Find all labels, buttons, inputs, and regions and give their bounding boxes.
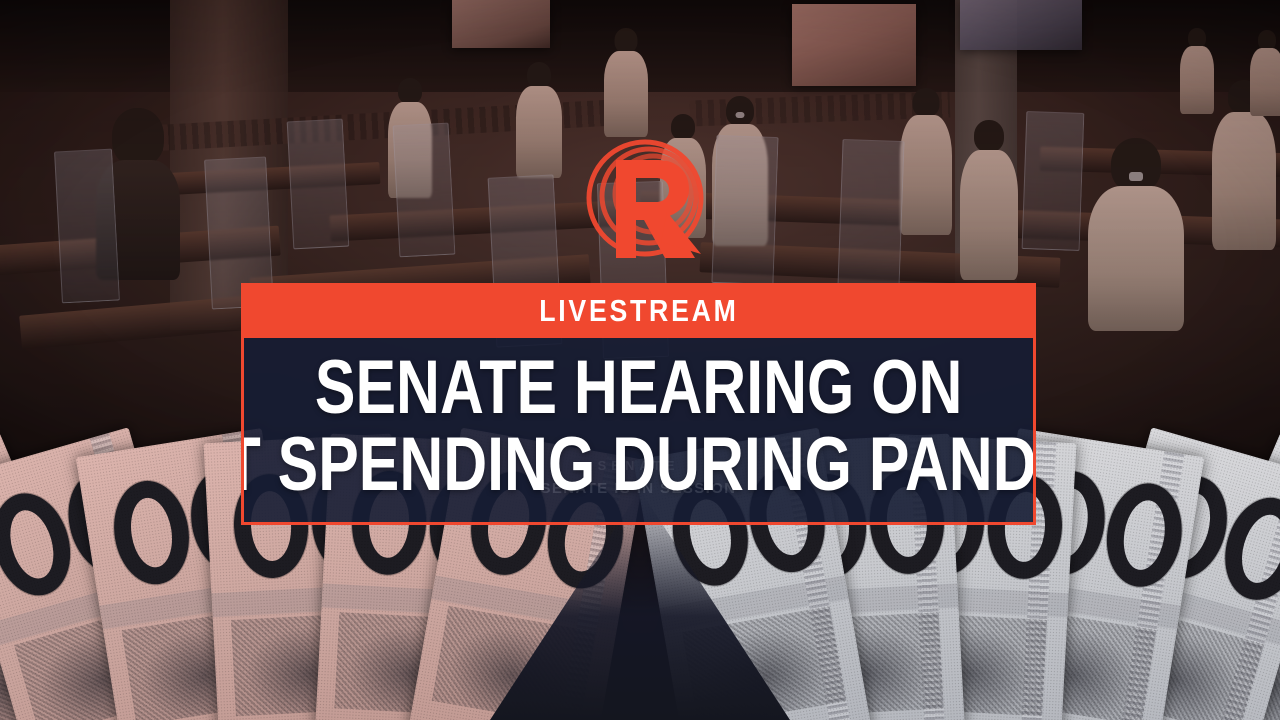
- banner-title-panel: SENATE SENATE IS IN SESSION SENATE HEARI…: [241, 338, 1036, 525]
- rappler-r-logo: [583, 136, 713, 266]
- livestream-kicker-bar: LIVESTREAM: [241, 283, 1036, 338]
- banner-title-line-2: GOVT SPENDING DURING PANDEMIC: [241, 429, 1036, 502]
- banner-title-line-1: SENATE HEARING ON: [315, 352, 962, 425]
- thumbnail-canvas: LIVESTREAM SENATE SENATE IS IN SESSION S…: [0, 0, 1280, 720]
- livestream-banner: LIVESTREAM SENATE SENATE IS IN SESSION S…: [241, 283, 1036, 525]
- livestream-kicker-label: LIVESTREAM: [539, 293, 738, 329]
